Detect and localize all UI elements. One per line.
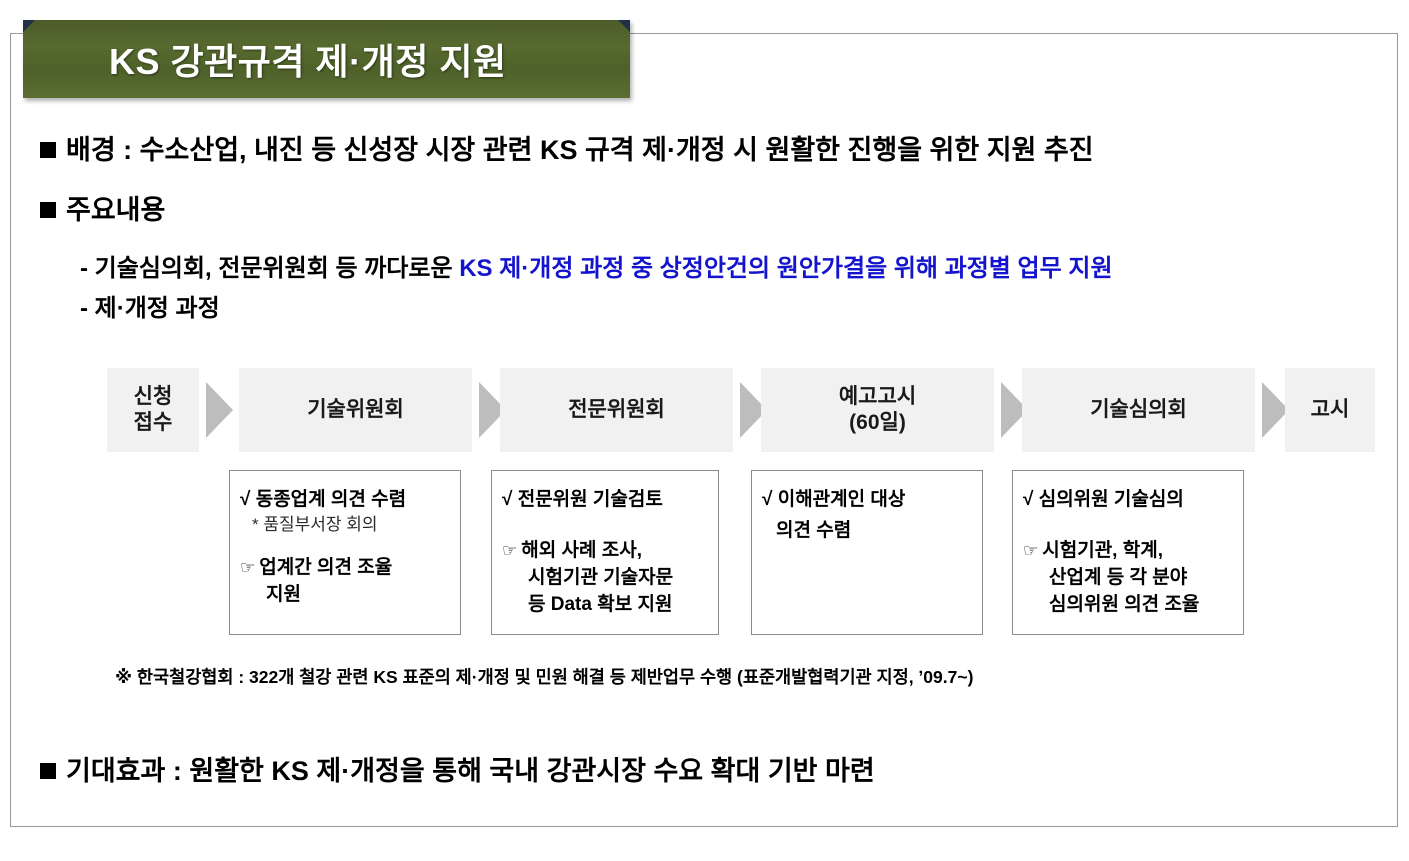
flow-step-technical-committee: 기술위원회 — [239, 368, 472, 452]
section-effect-text: 기대효과 : 원활한 KS 제·개정을 통해 국내 강관시장 수요 확대 기반 … — [66, 749, 875, 788]
flow-step-notification-label: 고시 — [1311, 397, 1350, 423]
detail-point-line: 지원 — [266, 582, 452, 607]
main-sub-line-1-prefix: - 기술심의회, 전문위원회 등 까다로운 — [80, 255, 459, 282]
detail-check-line: √ 심의위원 기술심의 — [1023, 487, 1235, 512]
banner-corner-right-icon — [618, 20, 630, 32]
detail-box-public-notice: √ 이해관계인 대상 의견 수렴 — [751, 470, 983, 635]
check-mark-icon: √ — [762, 489, 772, 510]
section-effect: 기대효과 : 원활한 KS 제·개정을 통해 국내 강관시장 수요 확대 기반 … — [40, 749, 875, 788]
flow-step-application: 신청 접수 — [107, 368, 199, 452]
detail-point: ☞업계간 의견 조율 지원 — [240, 555, 452, 607]
detail-check-line: √ 전문위원 기술검토 — [502, 487, 710, 512]
detail-box-expert-committee: √ 전문위원 기술검토 ☞해외 사례 조사, 시험기관 기술자문 등 Data … — [491, 470, 719, 635]
square-bullet-icon — [40, 763, 56, 779]
flow-step-application-label: 신청 접수 — [134, 384, 173, 437]
detail-check-text: 이해관계인 대상 — [778, 489, 906, 510]
detail-point-line: 시험기관, 학계, — [1042, 540, 1163, 561]
detail-box-technical-committee: √ 동종업계 의견 수렴 * 품질부서장 회의 ☞업계간 의견 조율 지원 — [229, 470, 461, 635]
footnote-text: 한국철강협회 : 322개 철강 관련 KS 표준의 제·개정 및 민원 해결 … — [137, 667, 974, 687]
banner-corner-left-icon — [23, 20, 35, 32]
flow-step-technical-committee-label: 기술위원회 — [307, 397, 404, 423]
process-flow-diagram: 신청 접수 기술위원회 전문위원회 예고고시 (60일) 기술심의회 고시 — [107, 368, 1377, 453]
detail-check-text: 동종업계 의견 수렴 — [256, 489, 406, 510]
detail-note: * 품질부서장 회의 — [252, 514, 452, 536]
square-bullet-icon — [40, 202, 56, 218]
slide-canvas: KS 강관규격 제·개정 지원 배경 : 수소산업, 내진 등 신성장 시장 관… — [0, 0, 1409, 861]
detail-point-line: 등 Data 확보 지원 — [528, 592, 710, 617]
footnote: ※ 한국철강협회 : 322개 철강 관련 KS 표준의 제·개정 및 민원 해… — [115, 664, 973, 689]
flow-step-public-notice-label: 예고고시 (60일) — [839, 384, 916, 437]
pointing-hand-icon: ☞ — [1023, 541, 1038, 560]
detail-point: ☞해외 사례 조사, 시험기관 기술자문 등 Data 확보 지원 — [502, 538, 710, 617]
slide-content: 배경 : 수소산업, 내진 등 신성장 시장 관련 KS 규격 제·개정 시 원… — [10, 33, 1398, 827]
slide-title-banner: KS 강관규격 제·개정 지원 — [23, 20, 630, 98]
footnote-mark-icon: ※ — [115, 667, 132, 687]
detail-check-text: 전문위원 기술검토 — [518, 489, 663, 510]
detail-check-text: 심의위원 기술심의 — [1039, 489, 1184, 510]
main-sub-line-2-prefix: - 제·개정 과정 — [80, 295, 220, 322]
main-sub-line-2: - 제·개정 과정 — [80, 288, 220, 323]
flow-step-expert-committee: 전문위원회 — [500, 368, 733, 452]
flow-step-public-notice: 예고고시 (60일) — [761, 368, 994, 452]
detail-check-text-line2: 의견 수렴 — [776, 518, 974, 543]
pointing-hand-icon: ☞ — [502, 541, 517, 560]
main-sub-line-1-highlight: KS 제·개정 과정 중 상정안건의 원안가결을 위해 과정별 업무 지원 — [459, 255, 1112, 282]
flow-step-deliberation-committee-label: 기술심의회 — [1090, 397, 1187, 423]
flow-arrow-icon — [206, 382, 233, 438]
detail-point-line: 해외 사례 조사, — [521, 540, 642, 561]
detail-point-line: 시험기관 기술자문 — [528, 565, 710, 590]
square-bullet-icon — [40, 142, 56, 158]
check-mark-icon: √ — [1023, 489, 1033, 510]
detail-point-line: 업계간 의견 조율 — [259, 557, 392, 578]
flow-step-notification: 고시 — [1285, 368, 1375, 452]
detail-point-line: 산업계 등 각 분야 — [1049, 565, 1235, 590]
detail-check-line: √ 동종업계 의견 수렴 — [240, 487, 452, 512]
main-sub-line-1: - 기술심의회, 전문위원회 등 까다로운 KS 제·개정 과정 중 상정안건의… — [80, 248, 1113, 283]
check-mark-icon: √ — [240, 489, 250, 510]
section-background: 배경 : 수소산업, 내진 등 신성장 시장 관련 KS 규격 제·개정 시 원… — [40, 128, 1094, 167]
section-background-text: 배경 : 수소산업, 내진 등 신성장 시장 관련 KS 규격 제·개정 시 원… — [66, 128, 1094, 167]
detail-point: ☞시험기관, 학계, 산업계 등 각 분야 심의위원 의견 조율 — [1023, 538, 1235, 617]
detail-point-line: 심의위원 의견 조율 — [1049, 592, 1235, 617]
check-mark-icon: √ — [502, 489, 512, 510]
detail-box-deliberation-committee: √ 심의위원 기술심의 ☞시험기관, 학계, 산업계 등 각 분야 심의위원 의… — [1012, 470, 1244, 635]
section-main-text: 주요내용 — [66, 188, 165, 227]
flow-step-deliberation-committee: 기술심의회 — [1022, 368, 1255, 452]
pointing-hand-icon: ☞ — [240, 558, 255, 577]
page-title: KS 강관규격 제·개정 지원 — [23, 33, 507, 85]
detail-check-line: √ 이해관계인 대상 — [762, 487, 974, 512]
flow-step-expert-committee-label: 전문위원회 — [568, 397, 665, 423]
section-main: 주요내용 — [40, 188, 165, 227]
